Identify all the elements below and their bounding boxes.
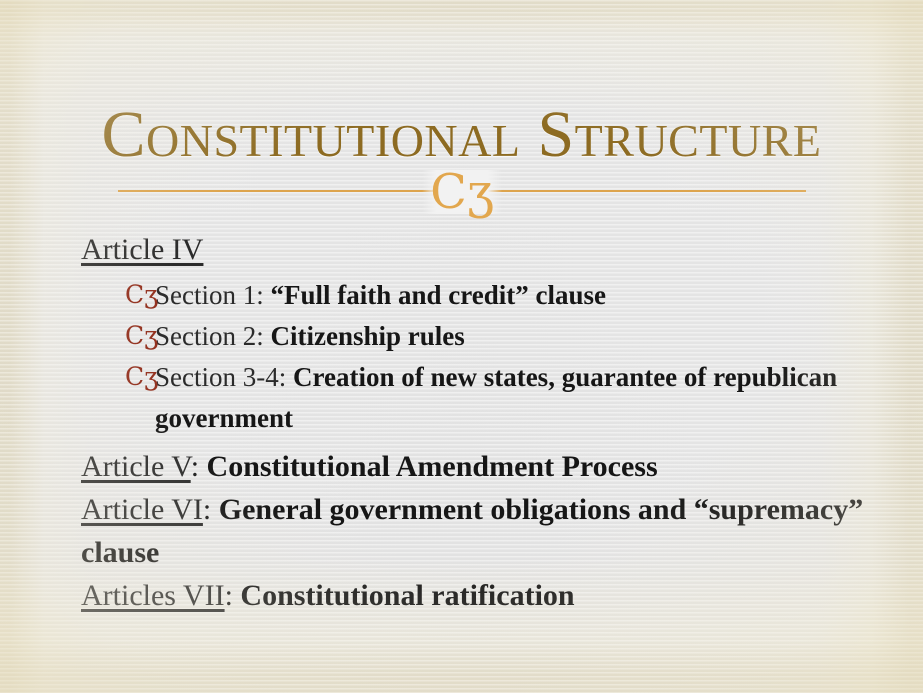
article-description: Constitutional ratification: [240, 579, 574, 612]
section-description: Citizenship rules: [271, 321, 465, 351]
section-label: Section 3-4:: [155, 362, 293, 392]
article-separator: :: [225, 579, 241, 612]
article-description: Constitutional Amendment Process: [207, 450, 658, 483]
list-item: ϹʒSection 3-4: Creation of new states, g…: [81, 357, 871, 439]
section-description: “Full faith and credit” clause: [271, 280, 607, 310]
presentation-slide: Constitutional Structure Ϲʒ Article IV Ϲ…: [0, 0, 923, 693]
flourish-bullet-icon: Ϲʒ: [125, 356, 158, 397]
title-divider: Ϲʒ: [118, 172, 806, 212]
list-item: ϹʒSection 2: Citizenship rules: [81, 316, 871, 357]
slide-title: Constitutional Structure: [0, 102, 923, 168]
flourish-bullet-icon: Ϲʒ: [125, 315, 158, 356]
bullet-level1: Article V: Constitutional Amendment Proc…: [81, 445, 871, 488]
article-separator: :: [191, 450, 207, 483]
article-separator: :: [203, 493, 219, 526]
section-label: Section 2:: [155, 321, 271, 351]
bullet-level1: Articles VII: Constitutional ratificatio…: [81, 574, 871, 617]
bullet-level1: Article IV: [81, 228, 871, 271]
list-item: ϹʒSection 1: “Full faith and credit” cla…: [81, 275, 871, 316]
article-heading: Article VI: [81, 493, 203, 526]
section-label: Section 1:: [155, 280, 271, 310]
bullet-level1: Article VI: General government obligatio…: [81, 488, 871, 574]
article-heading: Article V: [81, 450, 191, 483]
slide-body: Article IV ϹʒSection 1: “Full faith and …: [81, 228, 871, 617]
flourish-ornament-icon: Ϲʒ: [422, 170, 502, 214]
article-heading: Articles VII: [81, 579, 225, 612]
flourish-bullet-icon: Ϲʒ: [125, 274, 158, 315]
sub-bullet-list: ϹʒSection 1: “Full faith and credit” cla…: [81, 275, 871, 439]
article-heading: Article IV: [81, 233, 203, 266]
